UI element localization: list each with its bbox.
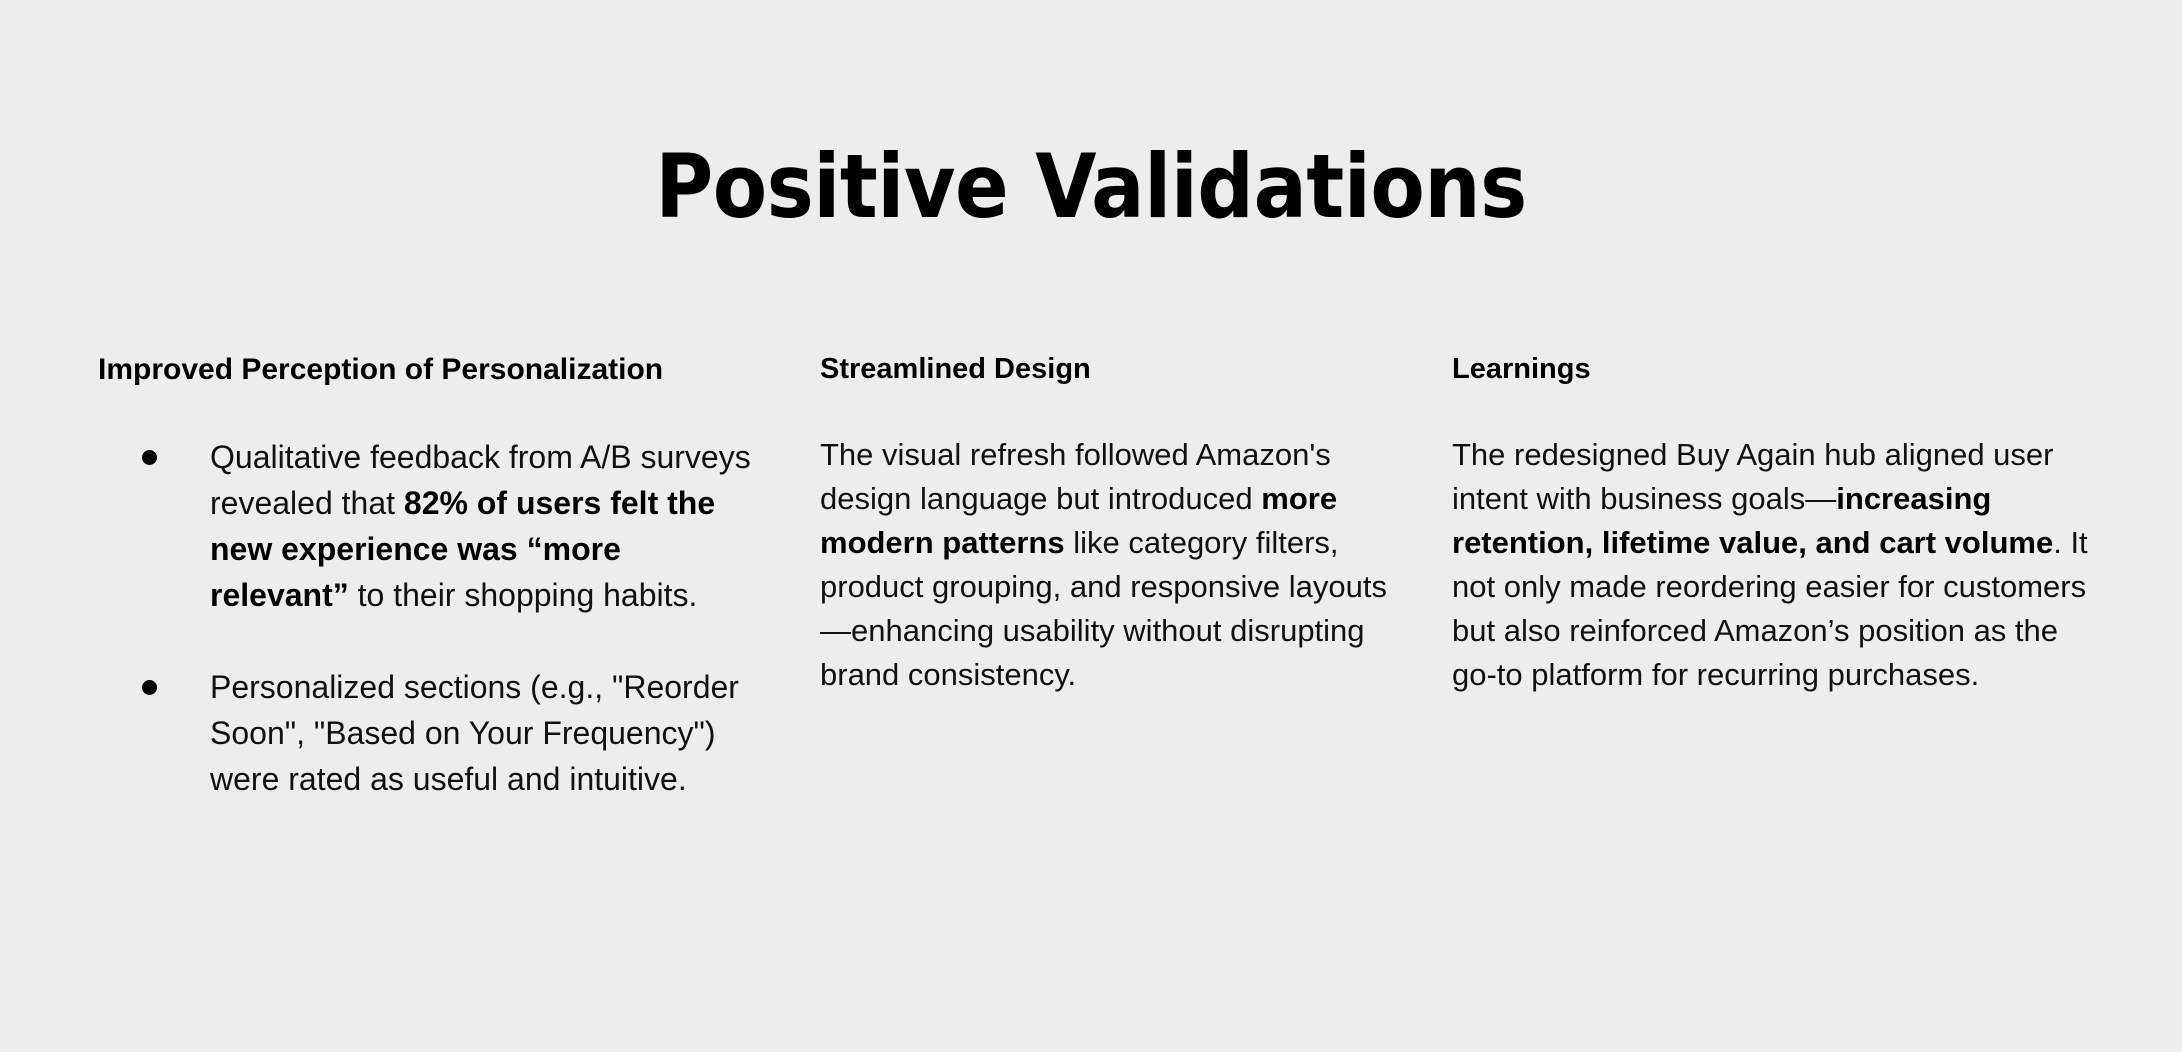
list-item-text: Personalized sections (e.g., "Reorder So…	[210, 669, 739, 797]
list-item: Qualitative feedback from A/B surveys re…	[98, 434, 758, 618]
bullet-dot-icon	[142, 680, 157, 695]
column-paragraph-streamlined-design: The visual refresh followed Amazon's des…	[820, 433, 1400, 697]
bullet-dot-icon	[142, 450, 157, 465]
column-learnings: Learnings The redesigned Buy Again hub a…	[1452, 352, 2092, 697]
list-item: Personalized sections (e.g., "Reorder So…	[98, 664, 758, 802]
column-improved-perception: Improved Perception of Personalization Q…	[98, 352, 758, 802]
column-paragraph-learnings: The redesigned Buy Again hub aligned use…	[1452, 433, 2092, 697]
slide-canvas: Positive Validations Improved Perception…	[0, 0, 2182, 1052]
column-streamlined-design: Streamlined Design The visual refresh fo…	[820, 352, 1400, 697]
column-heading-learnings: Learnings	[1452, 352, 2092, 387]
list-item-text: Qualitative feedback from A/B surveys re…	[210, 439, 751, 613]
content-columns: Improved Perception of Personalization Q…	[0, 352, 2182, 972]
page-title: Positive Validations	[0, 141, 2182, 233]
column-heading-streamlined-design: Streamlined Design	[820, 352, 1400, 387]
column-heading-improved-perception: Improved Perception of Personalization	[98, 352, 758, 388]
bullet-list-improved-perception: Qualitative feedback from A/B surveys re…	[98, 434, 758, 802]
